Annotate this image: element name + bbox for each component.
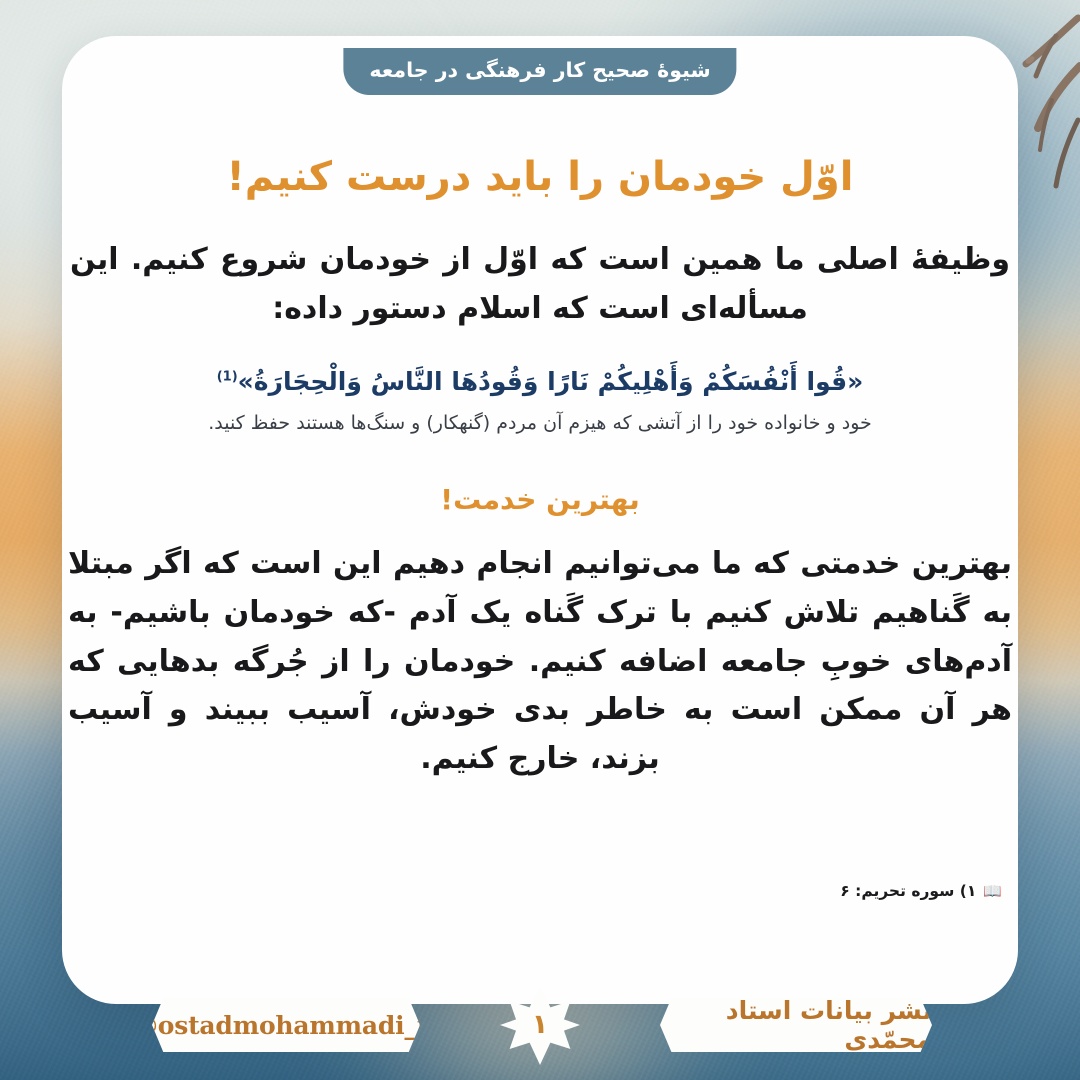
book-icon: 📖: [983, 884, 1002, 899]
page-number-medallion: ۱: [500, 985, 580, 1065]
section-subheading: بهترین خدمت!: [62, 482, 1018, 518]
quran-verse-block: «قُوا أَنْفُسَكُمْ وَأَهْلِيكُمْ نَارًا …: [62, 363, 1018, 438]
quran-verse-arabic: «قُوا أَنْفُسَكُمْ وَأَهْلِيكُمْ نَارًا …: [62, 363, 1018, 401]
content-column: اوّل خودمان را باید درست کنیم! وظیفهٔ اص…: [62, 118, 1018, 783]
poster-canvas: شیوهٔ صحیح کار فرهنگی در جامعه اوّل خودم…: [0, 0, 1080, 1080]
header-ribbon: شیوهٔ صحیح کار فرهنگی در جامعه: [343, 48, 736, 95]
publisher-label: نشر بیانات استاد محمّدی: [660, 996, 932, 1054]
social-handle-badge[interactable]: @ostadmohammadi_ir: [152, 998, 420, 1052]
intro-paragraph: وظیفهٔ اصلی ما همین است که اوّل از خودما…: [70, 236, 1010, 333]
footnote: 📖 ۱) سوره تحریم: ۶: [840, 884, 1002, 900]
footnote-text: ۱) سوره تحریم: ۶: [840, 884, 976, 900]
header-ribbon-label: شیوهٔ صحیح کار فرهنگی در جامعه: [369, 60, 710, 83]
quran-verse-translation: خود و خانواده خود را از آتشی که هیزم آن …: [62, 408, 1018, 438]
quran-verse-marker: (1): [217, 370, 238, 385]
publisher-badge[interactable]: نشر بیانات استاد محمّدی: [660, 998, 932, 1052]
social-handle-label: @ostadmohammadi_ir: [133, 1011, 439, 1040]
page-number: ۱: [532, 1011, 548, 1040]
body-paragraph: بهترین خدمتی که ما می‌توانیم انجام دهیم …: [68, 540, 1012, 783]
page-title: اوّل خودمان را باید درست کنیم!: [62, 152, 1018, 202]
quran-verse-text: «قُوا أَنْفُسَكُمْ وَأَهْلِيكُمْ نَارًا …: [238, 367, 864, 396]
